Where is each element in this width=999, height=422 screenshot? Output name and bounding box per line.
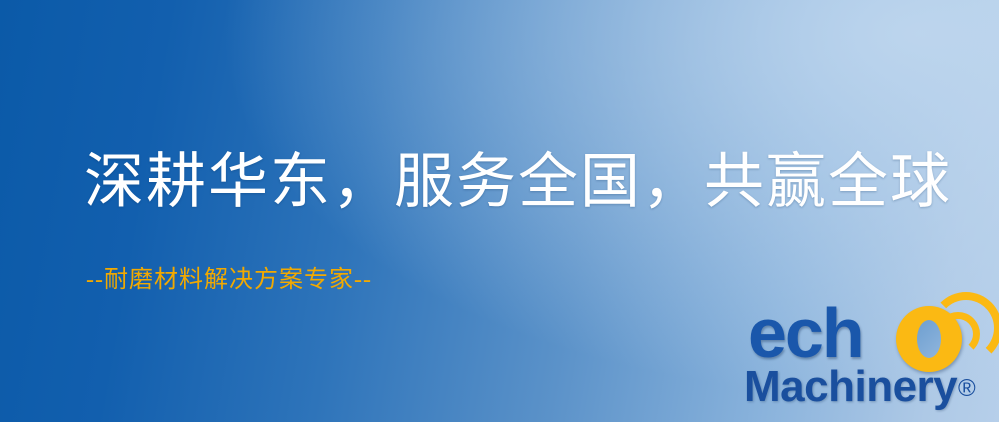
signal-wave-inner-icon: [936, 312, 980, 356]
banner-headline: 深耕华东，服务全国，共赢全球: [84, 152, 952, 212]
banner-subtitle: --耐磨材料解决方案专家--: [86, 268, 372, 292]
promo-banner: 深耕华东，服务全国，共赢全球 --耐磨材料解决方案专家-- ech Machin…: [0, 0, 999, 422]
registered-trademark-symbol: ®: [958, 377, 976, 401]
company-logo[interactable]: ech Machinery ®: [744, 298, 994, 420]
logo-subtext: Machinery: [744, 364, 957, 410]
logo-wordmark-text: ech: [748, 298, 863, 368]
